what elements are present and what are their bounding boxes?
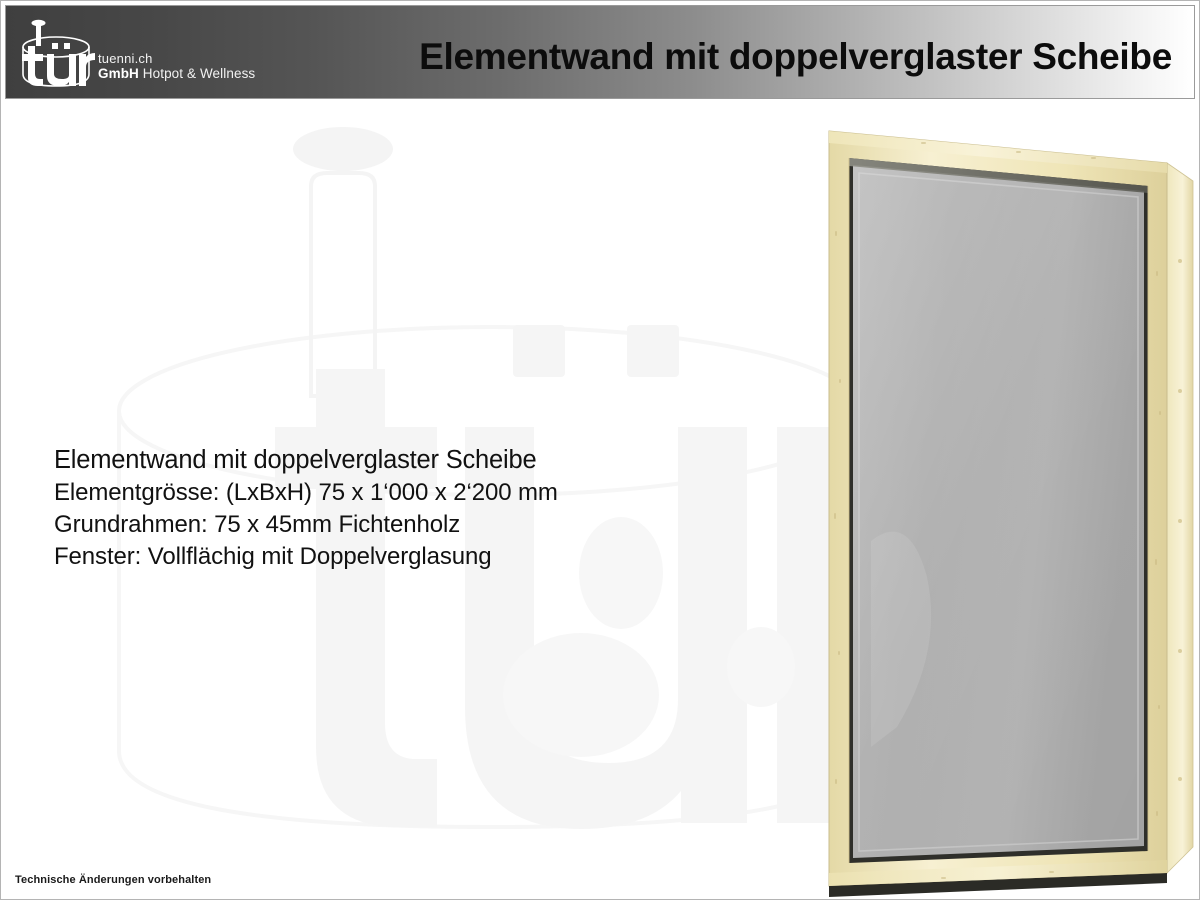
spec-line-size: Elementgrösse: (LxBxH) 75 x 1‘000 x 2‘20…	[54, 477, 734, 509]
footer-disclaimer: Technische Änderungen vorbehalten	[15, 874, 211, 886]
watermark-figure-body	[503, 633, 659, 757]
watermark-figure-arm	[727, 627, 795, 707]
spec-title: Elementwand mit doppelverglaster Scheibe	[54, 444, 734, 477]
spec-line-window: Fenster: Vollflächig mit Doppelverglasun…	[54, 541, 734, 573]
product-illustration	[801, 111, 1200, 900]
page-header: tuenni.ch GmbH Hotpot & Wellness Element…	[5, 5, 1195, 99]
watermark-chimney-cap	[293, 127, 393, 171]
watermark-chimney	[311, 173, 375, 396]
glass-reflection	[853, 165, 1144, 858]
specification-block: Elementwand mit doppelverglaster Scheibe…	[54, 444, 734, 574]
frame-side-face	[1167, 163, 1193, 873]
spec-line-frame: Grundrahmen: 75 x 45mm Fichtenholz	[54, 509, 734, 541]
page-title: Elementwand mit doppelverglaster Scheibe	[6, 36, 1172, 78]
slide-page: tuenni.ch GmbH Hotpot & Wellness Element…	[0, 0, 1200, 900]
